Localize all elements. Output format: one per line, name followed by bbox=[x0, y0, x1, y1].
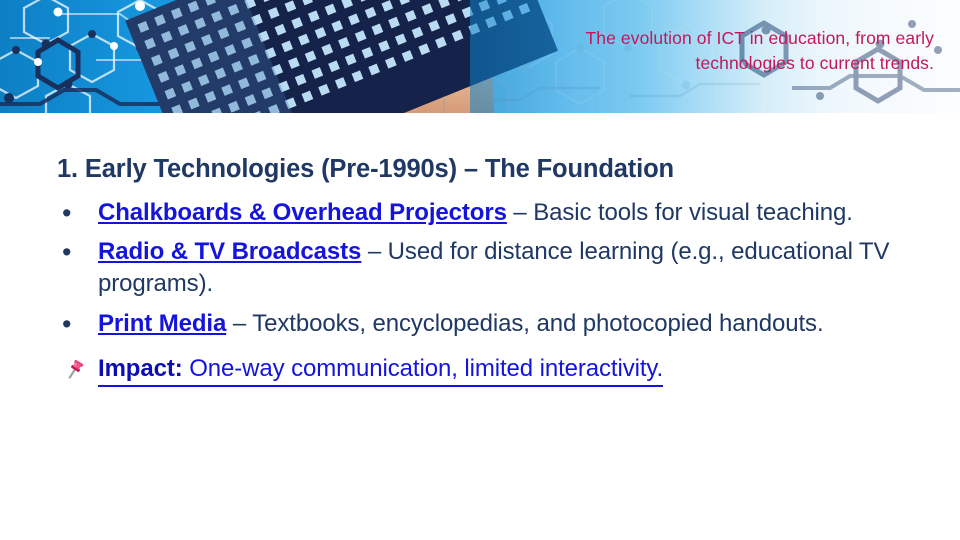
list-item: Radio & TV Broadcasts – Used for distanc… bbox=[57, 236, 902, 299]
pushpin-icon bbox=[63, 356, 89, 382]
banner-caption: The evolution of ICT in education, from … bbox=[504, 26, 934, 76]
page-title: 1. Early Technologies (Pre-1990s) – The … bbox=[57, 154, 902, 185]
list-item: Chalkboards & Overhead Projectors – Basi… bbox=[57, 197, 902, 229]
bullet-lead: Chalkboards & Overhead Projectors bbox=[98, 199, 507, 226]
slide-content: 1. Early Technologies (Pre-1990s) – The … bbox=[0, 113, 960, 540]
bullet-lead: Radio & TV Broadcasts bbox=[98, 238, 361, 265]
impact-label: Impact: bbox=[98, 355, 183, 382]
impact-statement: Impact: One-way communication, limited i… bbox=[57, 353, 902, 387]
list-item: Print Media – Textbooks, encyclopedias, … bbox=[57, 308, 902, 340]
bullet-lead: Print Media bbox=[98, 310, 226, 337]
impact-underlined-text: Impact: One-way communication, limited i… bbox=[98, 353, 663, 387]
bullet-list: Chalkboards & Overhead Projectors – Basi… bbox=[57, 197, 902, 340]
bullet-rest: – Textbooks, encyclopedias, and photocop… bbox=[226, 310, 823, 337]
impact-text: One-way communication, limited interacti… bbox=[183, 355, 663, 382]
header-banner: The evolution of ICT in education, from … bbox=[0, 0, 960, 113]
slide: The evolution of ICT in education, from … bbox=[0, 0, 960, 540]
bullet-rest: – Basic tools for visual teaching. bbox=[507, 199, 853, 226]
